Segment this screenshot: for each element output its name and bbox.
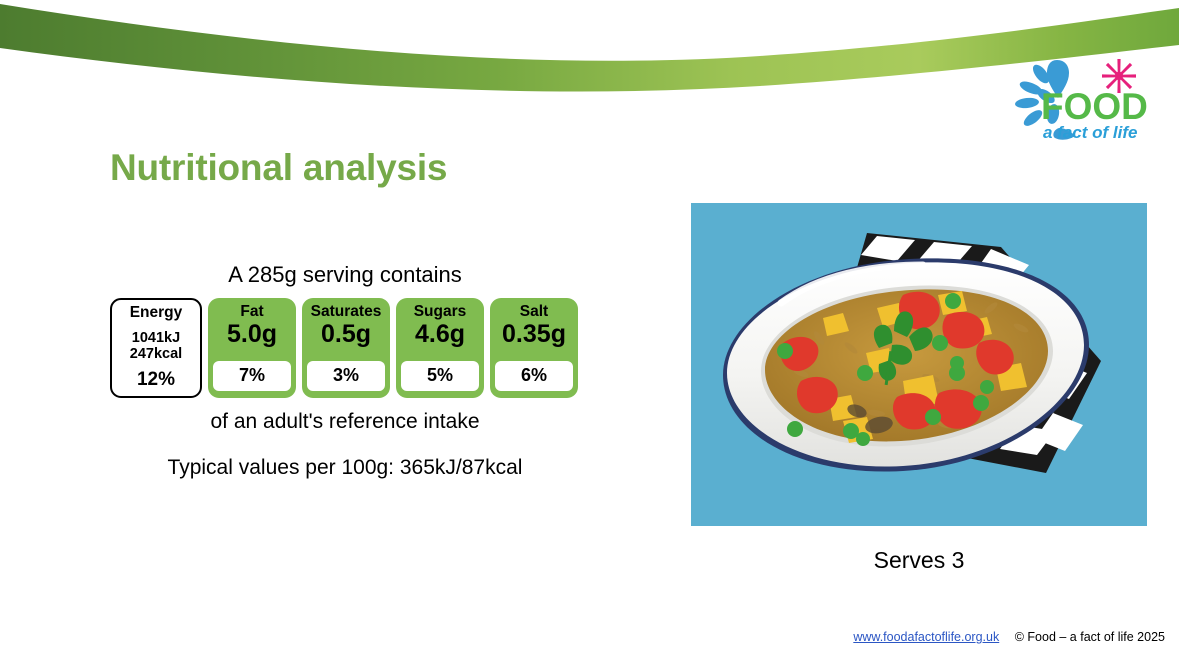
logo-tagline: a fact of life: [1043, 123, 1137, 142]
nutrient-amount-salt: 0.35g: [502, 321, 566, 348]
logo-wordmark: FOOD: [1041, 86, 1148, 127]
nutrient-name-salt: Salt: [520, 304, 548, 320]
nutrient-percent-sugars: 5%: [401, 361, 479, 391]
footer-copyright: © Food – a fact of life 2025: [1015, 630, 1165, 644]
nutrient-box-energy: Energy 1041kJ 247kcal 12%: [110, 298, 202, 398]
serves-caption: Serves 3: [691, 547, 1147, 574]
nutrient-name-saturates: Saturates: [311, 304, 382, 320]
nutrient-name-sugars: Sugars: [414, 304, 467, 320]
food-photo: [691, 203, 1147, 526]
energy-percent: 12%: [137, 370, 175, 389]
energy-value-kcal: 247kcal: [130, 346, 182, 362]
nutrient-amount-saturates: 0.5g: [321, 321, 371, 348]
nutrient-name-energy: Energy: [130, 305, 183, 321]
footer-website-link[interactable]: www.foodafactoflife.org.uk: [853, 630, 999, 644]
nutrient-box-saturates: Saturates 0.5g 3%: [302, 298, 390, 398]
nutrient-percent-salt: 6%: [495, 361, 573, 391]
nutritional-analysis-panel: A 285g serving contains Energy 1041kJ 24…: [110, 262, 580, 480]
footer: www.foodafactoflife.org.uk © Food – a fa…: [0, 630, 1179, 644]
nutrient-percent-saturates: 3%: [307, 361, 385, 391]
serving-heading: A 285g serving contains: [110, 262, 580, 288]
nutrient-box-fat: Fat 5.0g 7%: [208, 298, 296, 398]
energy-value-kj: 1041kJ: [130, 330, 182, 346]
food-a-fact-of-life-logo: FOOD a fact of life: [995, 52, 1167, 144]
reference-intake-text: of an adult's reference intake: [110, 410, 580, 434]
nutrient-box-sugars: Sugars 4.6g 5%: [396, 298, 484, 398]
traffic-light-nutrition-label: Energy 1041kJ 247kcal 12% Fat 5.0g 7% Sa…: [110, 298, 580, 398]
nutrient-percent-fat: 7%: [213, 361, 291, 391]
nutrient-box-salt: Salt 0.35g 6%: [490, 298, 578, 398]
typical-values-text: Typical values per 100g: 365kJ/87kcal: [110, 456, 580, 480]
page-title: Nutritional analysis: [110, 147, 447, 189]
nutrient-amount-fat: 5.0g: [227, 321, 277, 348]
nutrient-amount-sugars: 4.6g: [415, 321, 465, 348]
nutrient-name-fat: Fat: [240, 304, 263, 320]
